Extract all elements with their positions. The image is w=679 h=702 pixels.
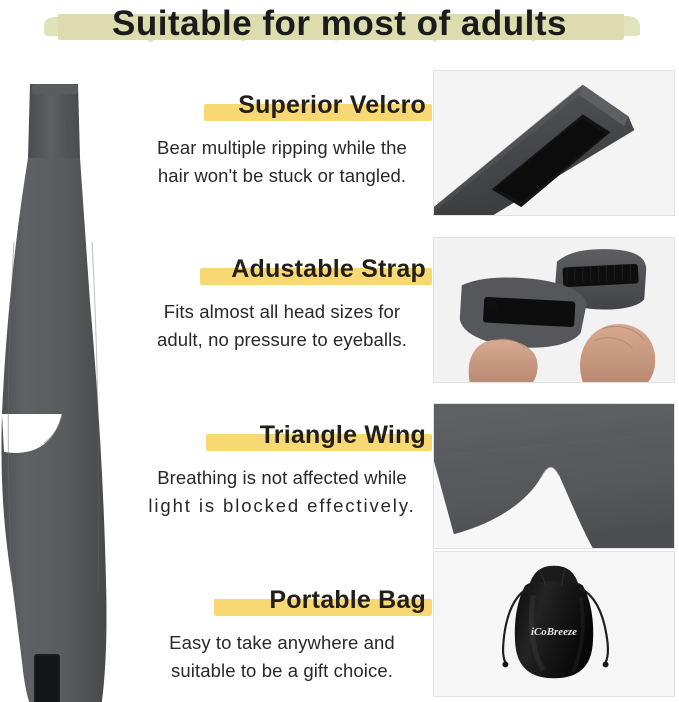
feature-item-superior-velcro: Superior Velcro Bear multiple ripping wh… [132,88,432,190]
feature-body-line-1: Bear multiple ripping while the [136,134,428,162]
feature-item-adustable-strap: Adustable Strap Fits almost all head siz… [132,252,432,354]
product-infographic: Suitable for most of adults [0,0,679,702]
title-banner: Suitable for most of adults [0,0,679,56]
feature-body-line-2: hair won't be stuck or tangled. [136,162,428,190]
feature-item-triangle-wing: Triangle Wing Breathing is not affected … [132,418,432,520]
feature-heading: Adustable Strap [231,252,426,286]
page-title: Suitable for most of adults [0,0,679,47]
hero-product-photo [0,62,132,702]
feature-body: Fits almost all head sizes for adult, no… [132,298,432,354]
feature-body-line-1: Breathing is not affected while [136,464,428,492]
feature-body: Easy to take anywhere and suitable to be… [132,629,432,685]
feature-body-line-1: Easy to take anywhere and [136,629,428,657]
feature-photo-drawstring-pouch: iCoBreeze [433,551,675,697]
feature-body: Bear multiple ripping while the hair won… [132,134,432,190]
feature-heading-row: Superior Velcro [132,88,432,124]
feature-heading-row: Portable Bag [132,583,432,619]
feature-body-line-2: light is blocked effectively. [136,492,428,520]
feature-heading: Triangle Wing [260,418,426,452]
feature-body-line-1: Fits almost all head sizes for [136,298,428,326]
feature-item-portable-bag: Portable Bag Easy to take anywhere and s… [132,583,432,685]
feature-heading: Portable Bag [269,583,426,617]
feature-heading-row: Adustable Strap [132,252,432,288]
pouch-brand-logo: iCoBreeze [531,626,577,638]
feature-photo-hands-holding-mask [433,237,675,383]
feature-photo-velcro-strap [433,70,675,216]
feature-body-line-2: suitable to be a gift choice. [136,657,428,685]
feature-heading: Superior Velcro [238,88,426,122]
feature-body: Breathing is not affected while light is… [132,464,432,520]
feature-body-line-2: adult, no pressure to eyeballs. [136,326,428,354]
feature-heading-row: Triangle Wing [132,418,432,454]
feature-photo-triangle-wing [433,403,675,549]
